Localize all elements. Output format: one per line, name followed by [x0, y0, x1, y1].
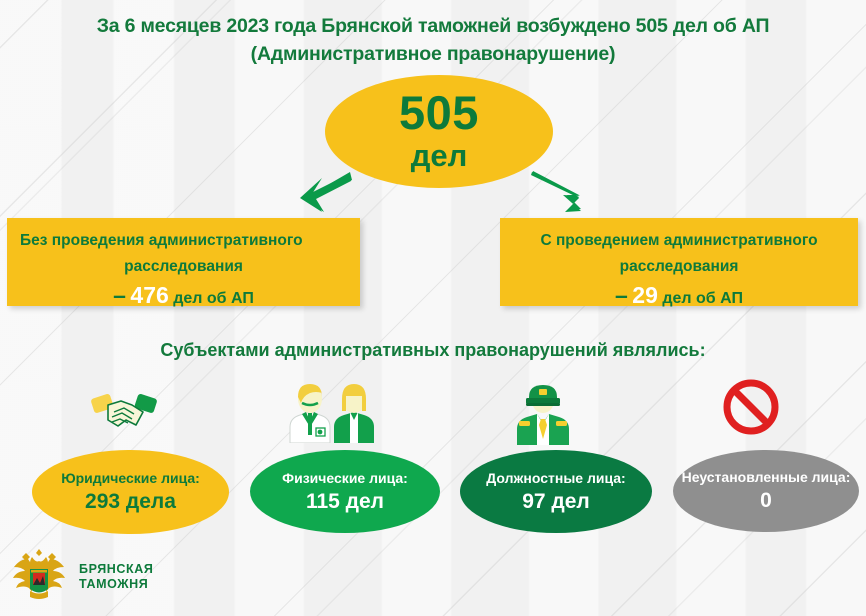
branch-right-line-2: расследования: [508, 254, 850, 280]
category-ellipse-individuals: Физические лица: 115 дел: [250, 450, 440, 533]
category-value-legal-entities: 293 дела: [85, 489, 176, 515]
prohibited-sign-icon: [722, 378, 780, 443]
branch-right-line-1: С проведением административного: [508, 228, 850, 254]
category-label-unidentified: Неустановленные лица:: [682, 468, 851, 486]
title-line-1: За 6 месяцев 2023 года Брянской таможней…: [0, 12, 866, 40]
total-cases-ellipse: 505 дел: [325, 75, 553, 188]
branch-left-line-1: Без проведения административного: [15, 228, 352, 254]
branch-right-suffix: дел об АП: [662, 290, 743, 307]
total-cases-number: 505: [399, 90, 479, 136]
category-value-individuals: 115 дел: [306, 489, 384, 515]
category-ellipse-unidentified: Неустановленные лица: 0: [673, 450, 859, 532]
branch-left-suffix: дел об АП: [173, 290, 254, 307]
category-label-legal-entities: Юридические лица:: [61, 469, 200, 487]
branch-right-value-row: – 29 дел об АП: [508, 282, 850, 312]
page-title: За 6 месяцев 2023 года Брянской таможней…: [0, 12, 866, 68]
branch-box-with-investigation: С проведением административного расследо…: [500, 218, 858, 306]
branch-right-value: 29: [632, 282, 658, 308]
logo-text-line-2: ТАМОЖНЯ: [79, 577, 154, 592]
category-label-individuals: Физические лица:: [282, 469, 408, 487]
branch-left-value: 476: [130, 282, 168, 308]
total-cases-unit: дел: [411, 138, 468, 174]
category-value-officials: 97 дел: [522, 489, 590, 515]
branch-box-without-investigation: Без проведения административного расслед…: [7, 218, 360, 306]
logo-text: БРЯНСКАЯ ТАМОЖНЯ: [79, 562, 154, 592]
branch-right-dash: –: [615, 282, 628, 308]
logo-text-line-1: БРЯНСКАЯ: [79, 562, 154, 577]
branch-left-line-2: расследования: [15, 254, 352, 280]
infographic-canvas: За 6 месяцев 2023 года Брянской таможней…: [0, 0, 866, 616]
officer-icon: [507, 379, 579, 450]
double-headed-eagle-emblem-icon: [8, 543, 70, 610]
branch-left-dash: –: [113, 282, 126, 308]
category-ellipse-legal-entities: Юридические лица: 293 дела: [32, 450, 229, 534]
handshake-icon: [88, 385, 160, 446]
category-label-officials: Должностные лица:: [486, 469, 625, 487]
category-value-unidentified: 0: [760, 488, 772, 514]
arrow-down-left-icon: [292, 168, 354, 223]
customs-logo: БРЯНСКАЯ ТАМОЖНЯ: [8, 543, 154, 610]
arrow-down-right-icon: [527, 165, 589, 222]
title-line-2: (Административное правонарушение): [0, 40, 866, 68]
section-subtitle: Субъектами административных правонарушен…: [0, 340, 866, 361]
branch-left-value-row: – 476 дел об АП: [15, 282, 352, 312]
two-people-icon: [276, 381, 386, 448]
category-ellipse-officials: Должностные лица: 97 дел: [460, 450, 652, 533]
